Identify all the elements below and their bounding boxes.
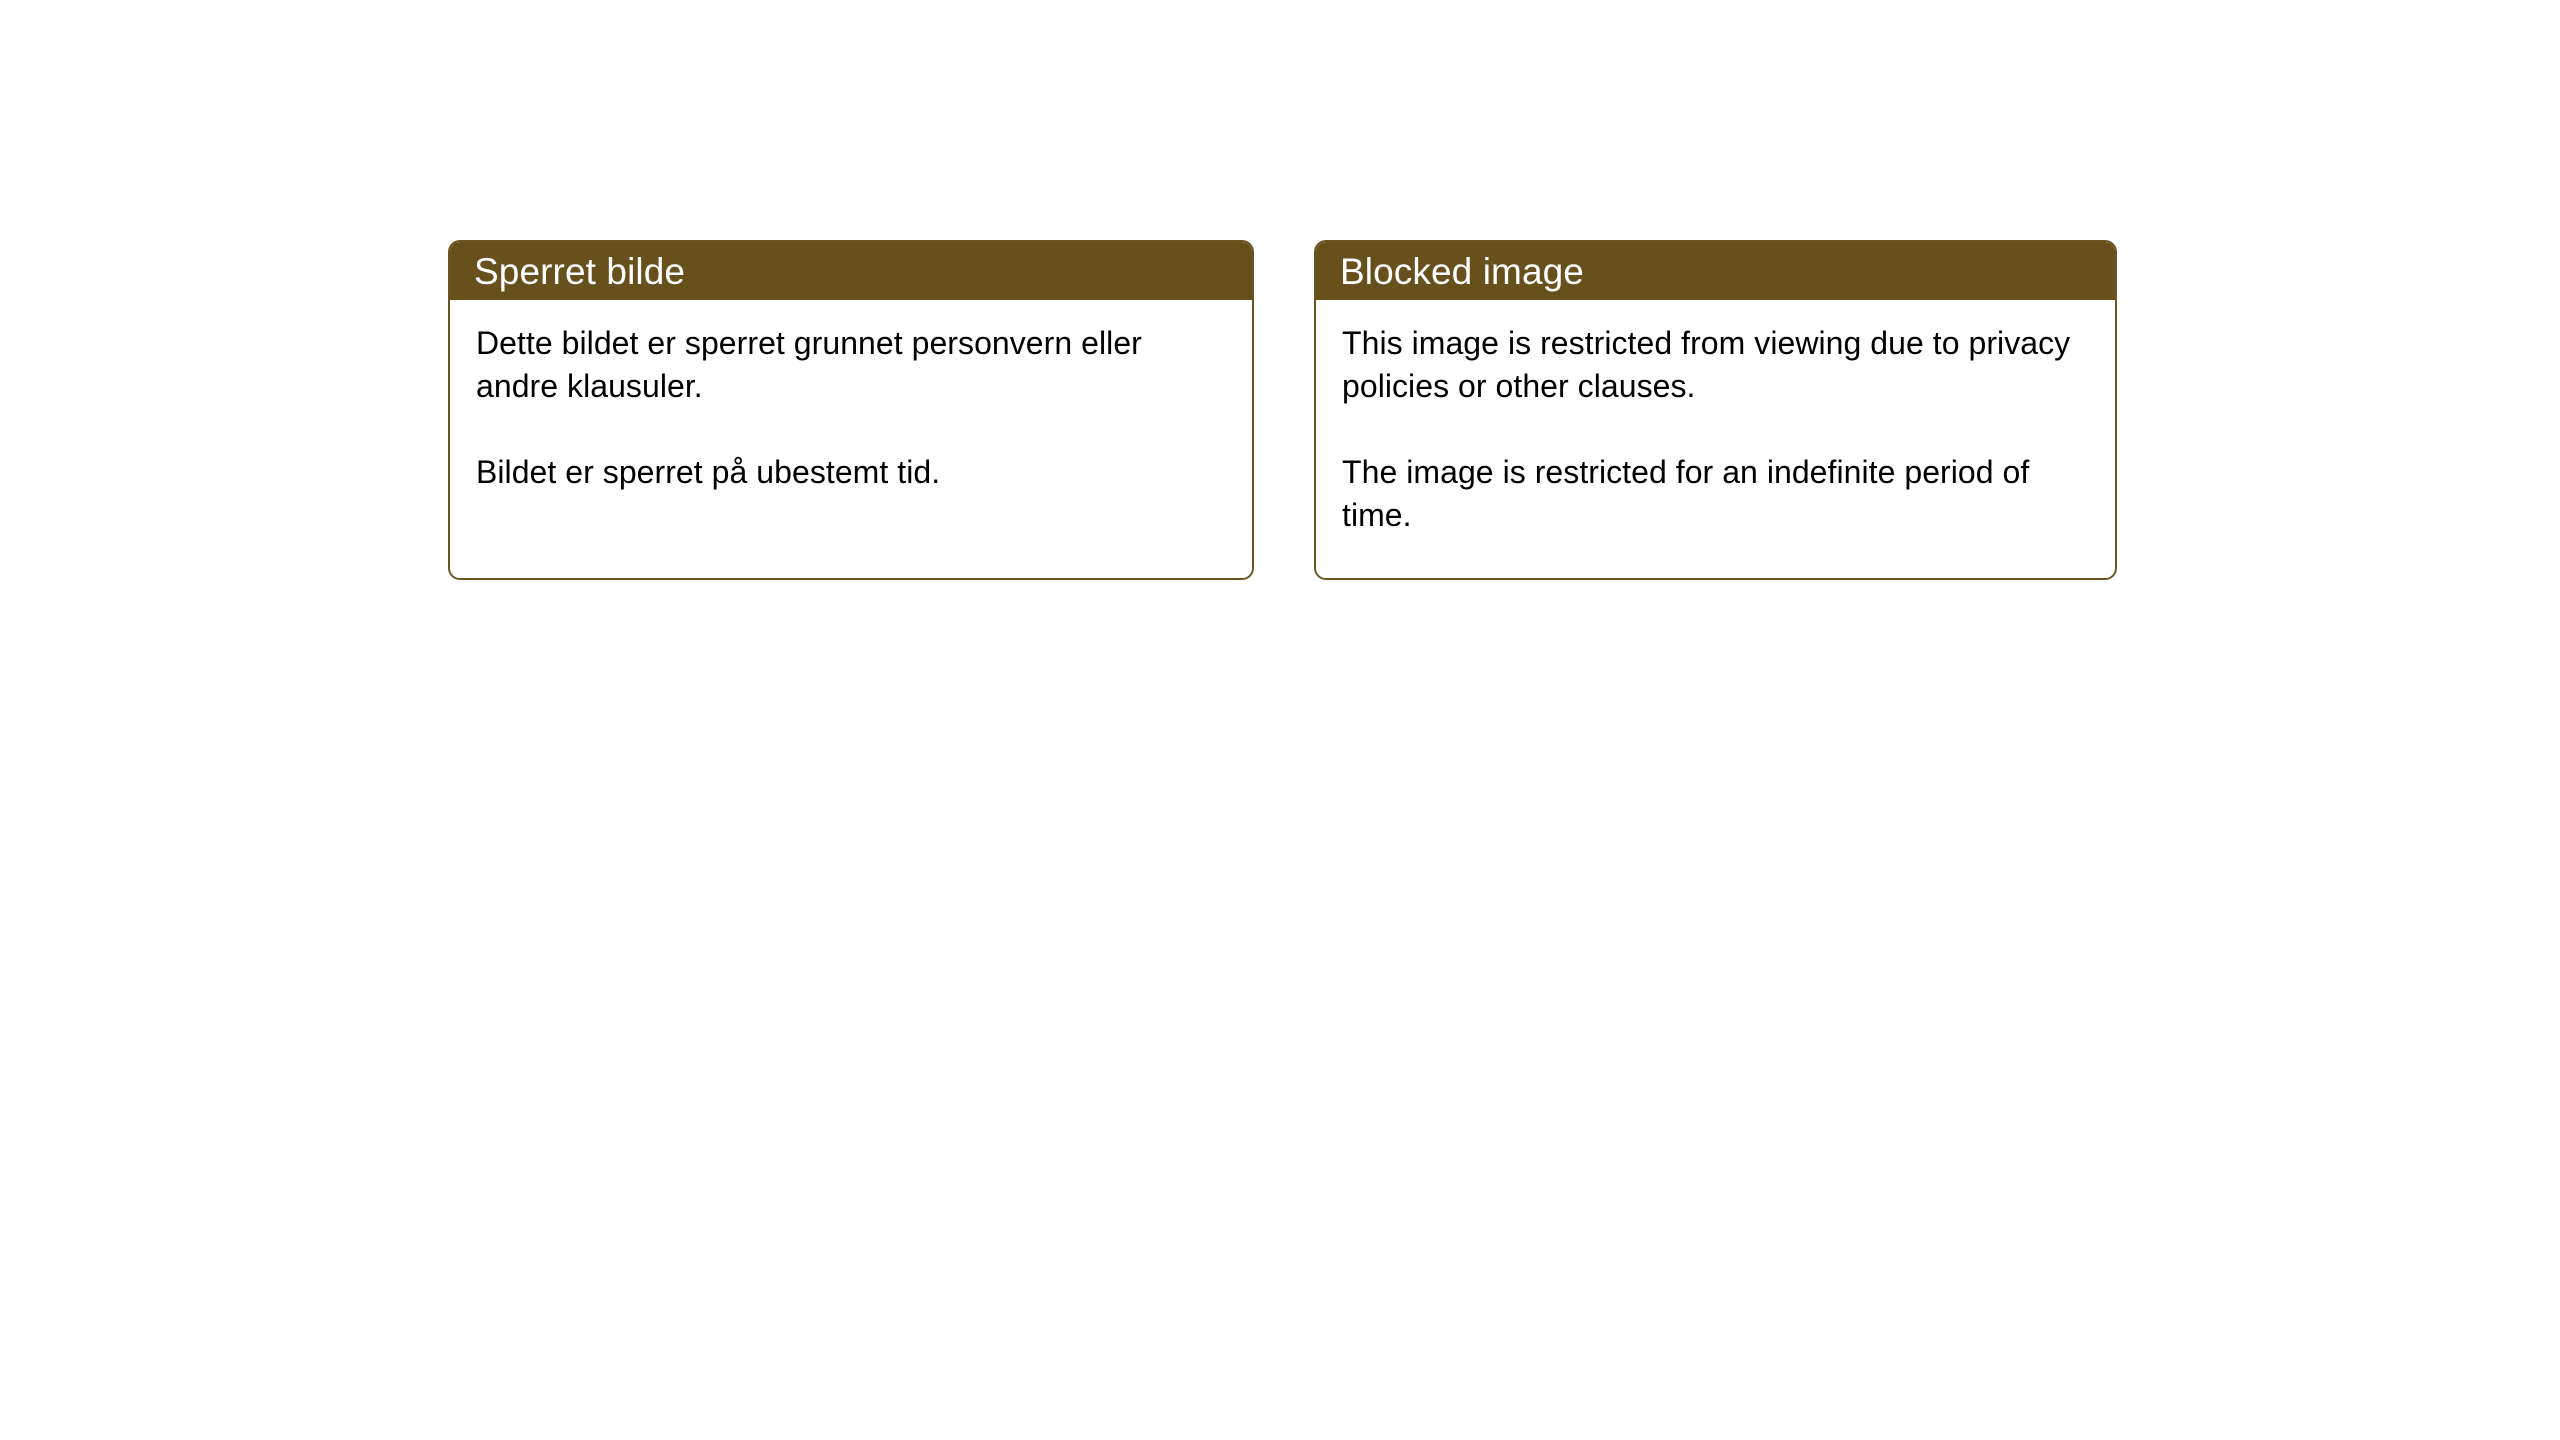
card-title-english: Blocked image — [1340, 253, 1584, 290]
card-paragraph-duration-english: The image is restricted for an indefinit… — [1342, 451, 2089, 537]
blocked-image-card-norwegian: Sperret bilde Dette bildet er sperret gr… — [448, 240, 1254, 580]
card-header-english: Blocked image — [1316, 242, 2115, 300]
card-title-norwegian: Sperret bilde — [474, 253, 685, 290]
card-paragraph-reason-english: This image is restricted from viewing du… — [1342, 322, 2089, 408]
card-header-norwegian: Sperret bilde — [450, 242, 1252, 300]
card-body-norwegian: Dette bildet er sperret grunnet personve… — [450, 300, 1252, 578]
card-paragraph-reason-norwegian: Dette bildet er sperret grunnet personve… — [476, 322, 1226, 408]
card-paragraph-duration-norwegian: Bildet er sperret på ubestemt tid. — [476, 451, 1226, 494]
blocked-image-card-english: Blocked image This image is restricted f… — [1314, 240, 2117, 580]
blocked-image-notice-group: Sperret bilde Dette bildet er sperret gr… — [448, 240, 2117, 580]
card-body-english: This image is restricted from viewing du… — [1316, 300, 2115, 578]
